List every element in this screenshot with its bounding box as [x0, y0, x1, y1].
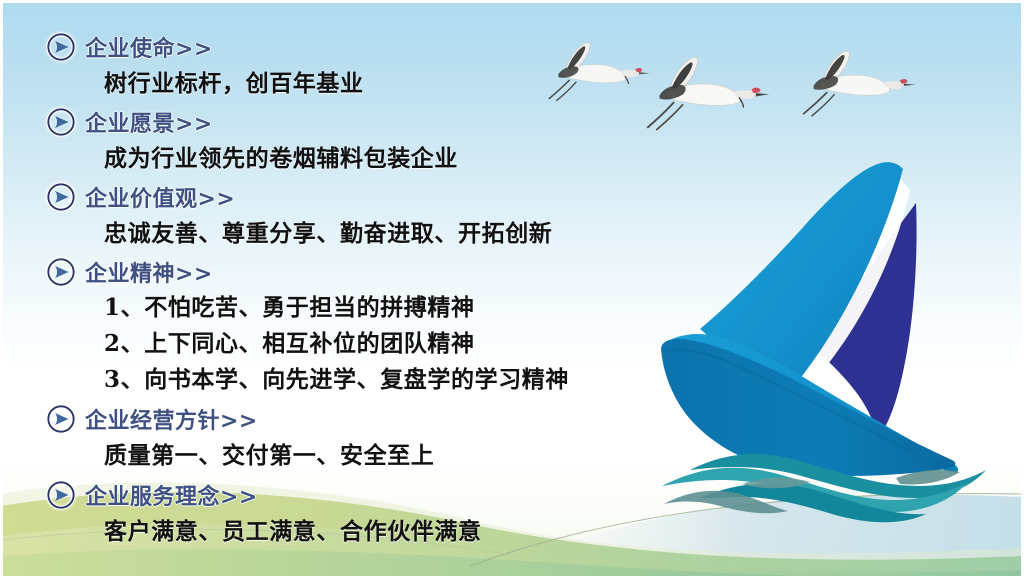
section-heading-label: 企业经营方针>>	[85, 403, 258, 435]
section-body-line: 1、不怕吃苦、勇于担当的拼搏精神	[46, 290, 700, 326]
section-body-line: 质量第一、交付第一、安全至上	[46, 437, 700, 474]
section-body-line: 树行业标杆，创百年基业	[46, 65, 700, 102]
poster-canvas: 企业使命>> 树行业标杆，创百年基业 企业愿景>> 成为行业领先的卷烟辅料包装企…	[0, 0, 1024, 579]
section-heading-row: 企业使命>>	[46, 30, 700, 64]
circle-arrow-right-icon	[46, 32, 76, 62]
section-body-line: 2、上下同心、相互补位的团队精神	[46, 326, 700, 362]
flying-crane-icon-3	[803, 51, 915, 116]
circle-arrow-right-icon	[46, 257, 76, 287]
section-heading-label: 企业使命>>	[85, 31, 213, 63]
section-heading-row: 企业经营方针>>	[46, 402, 700, 436]
section-body-line: 客户满意、员工满意、合作伙伴满意	[46, 513, 700, 550]
section-heading-row: 企业服务理念>>	[46, 478, 700, 512]
section-heading-label: 企业服务理念>>	[85, 479, 258, 511]
section-heading-row: 企业愿景>>	[46, 105, 700, 139]
circle-arrow-right-icon	[46, 182, 76, 212]
section-heading-label: 企业精神>>	[85, 256, 213, 288]
section-values: 企业价值观>> 忠诚友善、尊重分享、勤奋进取、开拓创新	[46, 180, 700, 252]
section-body-line: 忠诚友善、尊重分享、勤奋进取、开拓创新	[46, 215, 700, 252]
section-heading-label: 企业愿景>>	[85, 106, 213, 138]
section-heading-row: 企业精神>>	[46, 255, 700, 289]
sailboat-icon	[661, 162, 986, 522]
section-body-line: 成为行业领先的卷烟辅料包装企业	[46, 140, 700, 177]
circle-arrow-right-icon	[46, 404, 76, 434]
section-policy: 企业经营方针>> 质量第一、交付第一、安全至上	[46, 402, 700, 474]
section-heading-row: 企业价值观>>	[46, 180, 700, 214]
section-body-line: 3、向书本学、向先进学、复盘学的学习精神	[46, 362, 700, 398]
section-service: 企业服务理念>> 客户满意、员工满意、合作伙伴满意	[46, 478, 700, 550]
circle-arrow-right-icon	[46, 480, 76, 510]
section-vision: 企业愿景>> 成为行业领先的卷烟辅料包装企业	[46, 105, 700, 177]
circle-arrow-right-icon	[46, 107, 76, 137]
section-heading-label: 企业价值观>>	[85, 181, 235, 213]
section-spirit: 企业精神>> 1、不怕吃苦、勇于担当的拼搏精神 2、上下同心、相互补位的团队精神…	[46, 255, 700, 398]
content-column: 企业使命>> 树行业标杆，创百年基业 企业愿景>> 成为行业领先的卷烟辅料包装企…	[0, 0, 700, 550]
section-mission: 企业使命>> 树行业标杆，创百年基业	[46, 30, 700, 102]
